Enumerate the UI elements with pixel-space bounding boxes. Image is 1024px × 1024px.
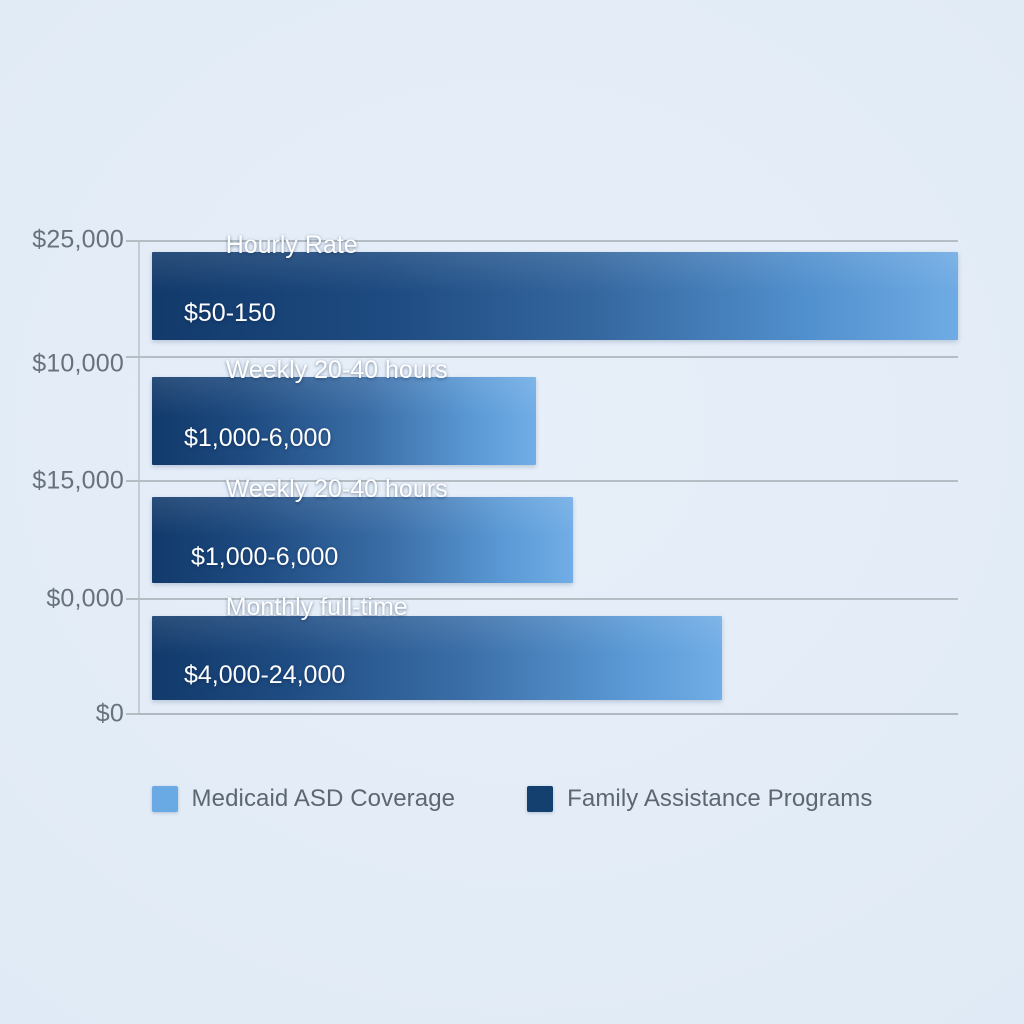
legend-label-1: Family Assistance Programs <box>567 787 872 811</box>
tick-mark <box>126 598 138 600</box>
y-axis-spine <box>138 240 140 714</box>
bar-sheen <box>152 377 536 417</box>
legend-swatch-icon <box>152 786 178 812</box>
legend-swatch-icon <box>527 786 553 812</box>
tick-mark <box>126 713 138 715</box>
y-axis-labels: $25,000 $10,000 $15,000 $0,000 $0 <box>0 240 124 714</box>
tick-mark <box>126 240 138 242</box>
tick-mark <box>126 480 138 482</box>
bar-sheen <box>152 497 573 536</box>
bar-sheen <box>152 616 722 654</box>
chart-legend: Medicaid ASD Coverage Family Assistance … <box>0 786 1024 812</box>
gridline-15000 <box>138 480 958 482</box>
y-axis-tick-label-3: $0,000 <box>46 587 124 612</box>
gridline-0000 <box>138 598 958 600</box>
legend-item-medicaid-asd-coverage[interactable]: Medicaid ASD Coverage <box>152 786 456 812</box>
bar-row-2[interactable] <box>152 497 573 583</box>
gridline-25000 <box>138 240 958 242</box>
plot-area: Hourly Rate $50-150 Weekly 20-40 hours $… <box>138 240 958 714</box>
gridline-0 <box>138 713 958 715</box>
y-axis-tick-label-2: $15,000 <box>32 469 124 494</box>
y-axis-tick-label-0: $25,000 <box>32 228 124 253</box>
y-axis-tick-label-4: $0 <box>96 702 124 727</box>
bar-sheen <box>152 252 958 292</box>
legend-item-family-assistance-programs[interactable]: Family Assistance Programs <box>527 786 872 812</box>
chart-canvas: $25,000 $10,000 $15,000 $0,000 $0 Hourly… <box>0 0 1024 1024</box>
y-axis-tick-label-1: $10,000 <box>32 352 124 377</box>
tick-mark <box>126 356 138 358</box>
bar-row-0[interactable] <box>152 252 958 340</box>
gridline-10000 <box>138 356 958 358</box>
bar-row-3[interactable] <box>152 616 722 700</box>
legend-label-0: Medicaid ASD Coverage <box>192 787 456 811</box>
bar-row-1[interactable] <box>152 377 536 465</box>
